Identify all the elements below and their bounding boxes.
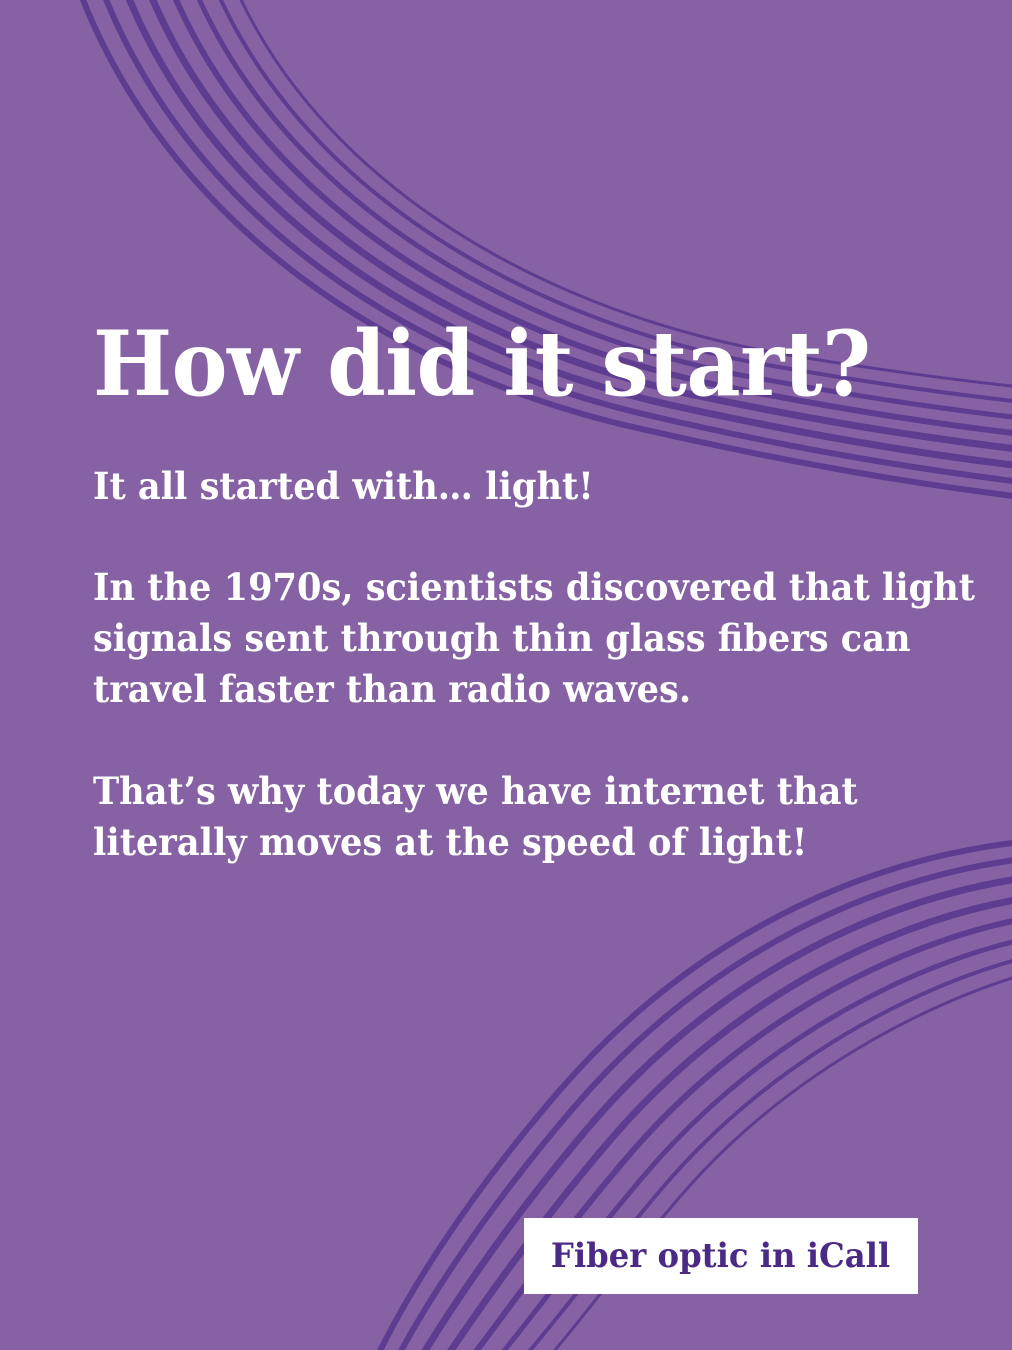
- brand-badge[interactable]: Fiber optic in iCall: [524, 1218, 918, 1294]
- paragraph-line: signals sent through thin glass fibers c…: [93, 613, 948, 664]
- body-paragraph-1: In the 1970s, scientists discovered that…: [93, 562, 948, 715]
- body-paragraph-2: That’s why today we have internet that l…: [93, 766, 948, 868]
- paragraph-line: That’s why today we have internet that: [93, 766, 948, 817]
- brand-badge-label: Fiber optic in iCall: [551, 1239, 890, 1273]
- subtitle: It all started with… light!: [93, 462, 594, 510]
- paragraph-line: In the 1970s, scientists discovered that…: [93, 562, 948, 613]
- poster-content: How did it start? It all started with… l…: [93, 0, 953, 1350]
- paragraph-line: travel faster than radio waves.: [93, 664, 948, 715]
- fiber-optic-poster: How did it start? It all started with… l…: [0, 0, 1012, 1350]
- paragraph-line: literally moves at the speed of light!: [93, 817, 948, 868]
- page-title: How did it start?: [93, 316, 871, 412]
